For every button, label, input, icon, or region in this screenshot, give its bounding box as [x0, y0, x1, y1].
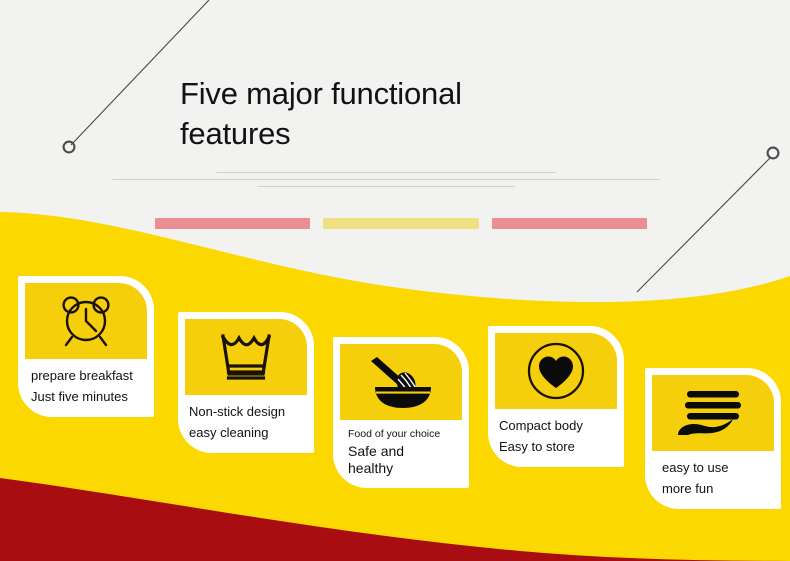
card-line-1: Food of your choice: [348, 427, 460, 443]
hand-pancakes-icon: [674, 385, 752, 441]
card-line-1: prepare breakfast: [31, 366, 145, 387]
feature-card-easy-to-use[interactable]: easy to use more fun: [645, 368, 781, 509]
page-title-line-1: Five major functional: [180, 76, 462, 111]
card-icon-slot: [495, 333, 617, 409]
card-icon-slot: [652, 375, 774, 451]
card-icon-slot: [340, 344, 462, 420]
card-text-block: Non-stick design easy cleaning: [185, 395, 307, 443]
card-line-2: Easy to store: [499, 437, 615, 458]
card-line-2: Just five minutes: [31, 387, 145, 408]
card-text-block: prepare breakfast Just five minutes: [25, 359, 147, 407]
feature-card-safe-and-healthy[interactable]: Food of your choice Safe and healthy: [333, 337, 469, 488]
card-line-2: more fun: [662, 479, 772, 500]
card-icon-slot: [25, 283, 147, 359]
card-line-1: Compact body: [499, 416, 615, 437]
accent-bar-pink-left: [155, 218, 310, 229]
page-title-line-2: features: [180, 116, 290, 151]
card-line-2: Safe and: [348, 443, 460, 461]
card-icon-slot: [185, 319, 307, 395]
card-line-1: easy to use: [662, 458, 772, 479]
card-line-1: Non-stick design: [189, 402, 305, 423]
card-line-2: easy cleaning: [189, 423, 305, 444]
accent-bar-pink-right: [492, 218, 647, 229]
placeholder-line: [112, 179, 660, 180]
accent-bar-yellow-middle: [323, 218, 478, 229]
feature-card-compact-body[interactable]: Compact body Easy to store: [488, 326, 624, 467]
card-text-block: Compact body Easy to store: [495, 409, 617, 457]
feature-card-prepare-breakfast[interactable]: prepare breakfast Just five minutes: [18, 276, 154, 417]
placeholder-line: [216, 172, 556, 173]
feature-card-non-stick-design[interactable]: Non-stick design easy cleaning: [178, 312, 314, 453]
alarm-clock-icon: [55, 291, 117, 351]
card-line-3: healthy: [348, 460, 460, 478]
placeholder-line: [257, 186, 515, 187]
card-text-block: Food of your choice Safe and healthy: [340, 420, 462, 478]
heart-in-circle-icon: [525, 340, 587, 402]
subtitle-placeholder-text: [112, 172, 660, 204]
promo-banner: Five major functional features: [0, 0, 790, 561]
card-text-block: easy to use more fun: [652, 451, 774, 499]
wash-basin-icon: [216, 328, 276, 386]
whisk-bowl-icon: [365, 353, 437, 411]
page-title: Five major functional features: [180, 74, 600, 153]
accent-bar-group: [155, 218, 647, 229]
